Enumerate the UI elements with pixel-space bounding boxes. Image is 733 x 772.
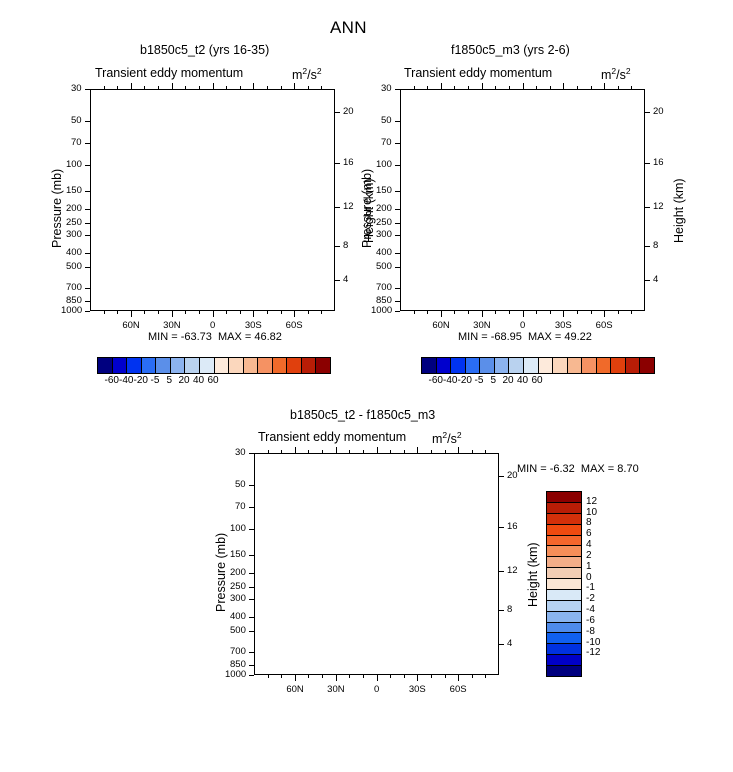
axis-tick [591, 311, 592, 314]
axis-tick-label: 1000 [371, 305, 392, 316]
axis-tick-label: 30N [327, 684, 344, 695]
colorbar-swatch [422, 358, 437, 373]
panel-difference-title: b1850c5_t2 - f1850c5_m3 [290, 408, 435, 422]
axis-tick [322, 675, 323, 678]
axis-tick [249, 587, 254, 588]
axis-tick-label: 300 [230, 593, 246, 604]
axis-tick-label: 700 [376, 282, 392, 293]
axis-tick [268, 450, 269, 453]
colorbar-difference[interactable] [546, 491, 582, 677]
axis-tick [645, 207, 650, 208]
colorbar-tick-label: 5 [491, 375, 497, 386]
axis-tick-label: 0 [520, 320, 525, 331]
axis-tick-label: 30N [473, 320, 490, 331]
colorbar-swatch [287, 358, 302, 373]
colorbar-tick-label: 8 [586, 517, 592, 528]
colorbar-swatch [547, 525, 581, 536]
panel-top-right-minmax: MIN = -68.95 MAX = 49.22 [458, 331, 592, 343]
axis-tick [577, 86, 578, 89]
axis-tick [550, 311, 551, 314]
colorbar-swatch [611, 358, 626, 373]
colorbar-tick-label: 10 [586, 507, 597, 518]
axis-tick-label: 100 [66, 159, 82, 170]
axis-tick [281, 311, 282, 314]
colorbar-swatch [302, 358, 317, 373]
colorbar-swatch [597, 358, 612, 373]
colorbar-tick-label: 6 [586, 528, 592, 539]
axis-tick [395, 143, 400, 144]
panel-difference-yaxis-right-label: Height (km) [526, 542, 540, 607]
colorbar-swatch [547, 579, 581, 590]
axis-tick [523, 311, 524, 317]
axis-tick [417, 447, 418, 453]
axis-tick [281, 450, 282, 453]
axis-tick-label: 50 [71, 115, 82, 126]
colorbar-swatch [547, 503, 581, 514]
axis-tick [631, 311, 632, 314]
axis-tick [281, 86, 282, 89]
colorbar-swatch [142, 358, 157, 373]
panel-difference-contour-field [255, 454, 499, 675]
axis-tick [563, 311, 564, 317]
colorbar-top-right[interactable] [421, 357, 655, 374]
colorbar-swatch [480, 358, 495, 373]
units-exp2: 2 [626, 66, 631, 76]
colorbar-swatch [258, 358, 273, 373]
colorbar-tick-label: -5 [151, 375, 160, 386]
axis-tick [495, 86, 496, 89]
panel-difference-minmax: MIN = -6.32 MAX = 8.70 [517, 463, 639, 475]
axis-tick-label: 1000 [61, 305, 82, 316]
axis-tick [85, 253, 90, 254]
axis-tick [249, 453, 254, 454]
axis-tick [104, 86, 105, 89]
panel-top-right-contour-field [401, 90, 645, 311]
colorbar-tick-label: -60 [429, 375, 443, 386]
colorbar-tick-label: 12 [586, 496, 597, 507]
axis-tick [499, 527, 504, 528]
axis-tick-label: 60S [450, 684, 467, 695]
axis-tick [249, 599, 254, 600]
panel-difference-variable-label: Transient eddy momentum [258, 430, 406, 444]
axis-tick [482, 83, 483, 89]
axis-tick [427, 86, 428, 89]
axis-tick [431, 675, 432, 678]
axis-tick [631, 86, 632, 89]
axis-tick [550, 86, 551, 89]
colorbar-swatch [495, 358, 510, 373]
units-exp2: 2 [457, 430, 462, 440]
colorbar-swatch [451, 358, 466, 373]
axis-tick [240, 311, 241, 314]
axis-tick-label: 70 [71, 137, 82, 148]
axis-tick [454, 311, 455, 314]
axis-tick [85, 301, 90, 302]
axis-tick [308, 86, 309, 89]
axis-tick-label: 20 [653, 106, 664, 117]
axis-tick-label: 250 [230, 581, 246, 592]
axis-tick [172, 83, 173, 89]
axis-tick-label: 700 [66, 282, 82, 293]
axis-tick [454, 86, 455, 89]
axis-tick [131, 311, 132, 317]
colorbar-tick-label: -8 [586, 626, 595, 637]
axis-tick [445, 675, 446, 678]
axis-tick [213, 83, 214, 89]
axis-tick-label: 150 [376, 185, 392, 196]
axis-tick [427, 311, 428, 314]
axis-tick [563, 83, 564, 89]
axis-tick-label: 70 [381, 137, 392, 148]
axis-tick [85, 288, 90, 289]
axis-tick [253, 311, 254, 317]
axis-tick-label: 200 [230, 567, 246, 578]
units-base: m [601, 68, 611, 82]
axis-tick [604, 311, 605, 317]
axis-tick [85, 191, 90, 192]
panel-difference-plot[interactable] [254, 453, 499, 675]
axis-tick-label: 400 [376, 247, 392, 258]
colorbar-tick-label: 2 [586, 550, 592, 561]
colorbar-tick-label: 20 [503, 375, 514, 386]
units-base: m [432, 432, 442, 446]
colorbar-swatch [539, 358, 554, 373]
axis-tick [395, 89, 400, 90]
panel-top-right-plot[interactable] [400, 89, 645, 311]
units-mid: /s [616, 68, 626, 82]
colorbar-tick-label: 0 [586, 572, 592, 583]
axis-tick [349, 675, 350, 678]
axis-tick-label: 400 [66, 247, 82, 258]
axis-tick [499, 571, 504, 572]
axis-tick-label: 20 [343, 106, 354, 117]
axis-tick [509, 311, 510, 314]
colorbar-tick-label: -6 [586, 615, 595, 626]
axis-tick [468, 86, 469, 89]
axis-tick [395, 223, 400, 224]
panel-top-left-title: b1850c5_t2 (yrs 16-35) [140, 43, 269, 57]
colorbar-swatch [547, 655, 581, 666]
colorbar-tick-label: -20 [458, 375, 472, 386]
axis-tick [645, 280, 650, 281]
colorbar-swatch [437, 358, 452, 373]
axis-tick [249, 675, 254, 676]
panel-difference-yaxis-label: Pressure (mb) [214, 533, 228, 612]
axis-tick-label: 30N [163, 320, 180, 331]
axis-tick-label: 60N [286, 684, 303, 695]
axis-tick-label: 100 [376, 159, 392, 170]
colorbar-tick-label: 40 [193, 375, 204, 386]
axis-tick [249, 665, 254, 666]
axis-tick [431, 450, 432, 453]
axis-tick [363, 450, 364, 453]
colorbar-swatch [127, 358, 142, 373]
colorbar-tick-label: -40 [119, 375, 133, 386]
colorbar-swatch [215, 358, 230, 373]
axis-tick [472, 450, 473, 453]
colorbar-swatch [171, 358, 186, 373]
axis-tick [85, 311, 90, 312]
panel-top-left-max: MAX = 46.82 [218, 331, 282, 343]
colorbar-tick-label: -40 [443, 375, 457, 386]
axis-tick [591, 86, 592, 89]
axis-tick-label: 30 [235, 447, 246, 458]
axis-tick [536, 311, 537, 314]
axis-tick-label: 8 [653, 240, 658, 251]
axis-tick-label: 0 [210, 320, 215, 331]
axis-tick [499, 644, 504, 645]
colorbar-tick-label: -1 [586, 582, 595, 593]
axis-tick-label: 200 [376, 203, 392, 214]
colorbar-tick-label: -2 [586, 593, 595, 604]
axis-tick [536, 86, 537, 89]
colorbar-tick-label: 1 [586, 561, 592, 572]
axis-tick [172, 311, 173, 317]
axis-tick [472, 675, 473, 678]
colorbar-swatch [98, 358, 113, 373]
colorbar-swatch [640, 358, 654, 373]
axis-tick-label: 4 [343, 274, 348, 285]
units-exp2: 2 [317, 66, 322, 76]
axis-tick [117, 86, 118, 89]
axis-tick [144, 311, 145, 314]
axis-tick-label: 30 [71, 83, 82, 94]
axis-tick-label: 60N [122, 320, 139, 331]
colorbar-tick-label: -10 [586, 637, 600, 648]
axis-tick [336, 675, 337, 681]
axis-tick [213, 311, 214, 317]
axis-tick [499, 476, 504, 477]
axis-tick-label: 500 [230, 625, 246, 636]
colorbar-swatch [547, 623, 581, 634]
panel-difference-units: m2/s2 [432, 430, 462, 446]
axis-tick [144, 86, 145, 89]
axis-tick [395, 191, 400, 192]
colorbar-top-left[interactable] [97, 357, 331, 374]
panel-top-left-variable-label: Transient eddy momentum [95, 66, 243, 80]
axis-tick [645, 163, 650, 164]
axis-tick [226, 86, 227, 89]
axis-tick [482, 311, 483, 317]
axis-tick [363, 675, 364, 678]
axis-tick [185, 311, 186, 314]
colorbar-swatch [547, 590, 581, 601]
axis-tick-label: 250 [376, 217, 392, 228]
panel-top-right-units: m2/s2 [601, 66, 631, 82]
axis-tick [308, 311, 309, 314]
panel-top-left-yaxis-label: Pressure (mb) [50, 169, 64, 248]
axis-tick [395, 235, 400, 236]
colorbar-tick-label: -4 [586, 604, 595, 615]
axis-tick [199, 311, 200, 314]
axis-tick [253, 83, 254, 89]
panel-top-right-yaxis-right-label: Height (km) [672, 178, 686, 243]
colorbar-tick-label: -20 [134, 375, 148, 386]
axis-tick-label: 300 [376, 229, 392, 240]
axis-tick [267, 86, 268, 89]
colorbar-swatch [244, 358, 259, 373]
figure-season-title: ANN [330, 18, 367, 38]
axis-tick-label: 150 [230, 549, 246, 560]
axis-tick [158, 311, 159, 314]
axis-tick [85, 235, 90, 236]
axis-tick-label: 400 [230, 611, 246, 622]
colorbar-swatch [509, 358, 524, 373]
colorbar-swatch [547, 666, 581, 676]
axis-tick [321, 311, 322, 314]
axis-tick-label: 150 [66, 185, 82, 196]
axis-tick-label: 100 [230, 523, 246, 534]
axis-tick [322, 450, 323, 453]
axis-tick-label: 60S [286, 320, 303, 331]
panel-difference-max: MAX = 8.70 [581, 463, 639, 475]
colorbar-swatch [547, 557, 581, 568]
colorbar-tick-label: -5 [475, 375, 484, 386]
axis-tick [458, 675, 459, 681]
axis-tick [267, 311, 268, 314]
axis-tick [335, 280, 340, 281]
axis-tick [395, 121, 400, 122]
axis-tick [645, 112, 650, 113]
axis-tick-label: 60N [432, 320, 449, 331]
axis-tick [395, 288, 400, 289]
axis-tick [249, 631, 254, 632]
units-mid: /s [307, 68, 317, 82]
panel-top-left-units: m2/s2 [292, 66, 322, 82]
axis-tick [185, 86, 186, 89]
colorbar-tick-label: -60 [105, 375, 119, 386]
axis-tick-label: 8 [343, 240, 348, 251]
axis-tick [335, 163, 340, 164]
colorbar-swatch [229, 358, 244, 373]
axis-tick-label: 30S [245, 320, 262, 331]
axis-tick [295, 447, 296, 453]
axis-tick-label: 70 [235, 501, 246, 512]
axis-tick [349, 450, 350, 453]
axis-tick-label: 30 [381, 83, 392, 94]
colorbar-swatch [547, 633, 581, 644]
colorbar-tick-label: 60 [208, 375, 219, 386]
axis-tick [604, 83, 605, 89]
axis-tick-label: 16 [343, 157, 354, 168]
colorbar-swatch [547, 492, 581, 503]
axis-tick [523, 83, 524, 89]
axis-tick [85, 165, 90, 166]
axis-tick-label: 16 [507, 521, 518, 532]
axis-tick [281, 675, 282, 678]
axis-tick [395, 311, 400, 312]
colorbar-swatch [524, 358, 539, 373]
axis-tick [377, 447, 378, 453]
axis-tick [395, 165, 400, 166]
axis-tick-label: 8 [507, 604, 512, 615]
panel-top-left-minmax: MIN = -63.73 MAX = 46.82 [148, 331, 282, 343]
axis-tick [485, 450, 486, 453]
axis-tick-label: 250 [66, 217, 82, 228]
axis-tick-label: 50 [235, 479, 246, 490]
axis-tick [404, 450, 405, 453]
axis-tick [85, 209, 90, 210]
axis-tick-label: 20 [507, 470, 518, 481]
axis-tick [441, 311, 442, 317]
axis-tick-label: 200 [66, 203, 82, 214]
colorbar-swatch [547, 536, 581, 547]
axis-tick [85, 267, 90, 268]
axis-tick [645, 246, 650, 247]
axis-tick [441, 83, 442, 89]
axis-tick-label: 4 [507, 638, 512, 649]
colorbar-swatch [547, 644, 581, 655]
axis-tick [85, 143, 90, 144]
axis-tick [249, 485, 254, 486]
axis-tick [249, 555, 254, 556]
axis-tick [458, 447, 459, 453]
axis-tick [85, 121, 90, 122]
colorbar-swatch [568, 358, 583, 373]
colorbar-tick-label: 5 [167, 375, 173, 386]
axis-tick-label: 0 [374, 684, 379, 695]
panel-top-left-contour-field [91, 90, 335, 311]
axis-tick [390, 675, 391, 678]
colorbar-swatch [547, 568, 581, 579]
axis-tick [335, 246, 340, 247]
axis-tick [249, 573, 254, 574]
axis-tick [249, 507, 254, 508]
axis-tick [308, 675, 309, 678]
colorbar-swatch [466, 358, 481, 373]
colorbar-swatch [273, 358, 288, 373]
axis-tick [495, 311, 496, 314]
axis-tick [395, 267, 400, 268]
colorbar-tick-label: 40 [517, 375, 528, 386]
colorbar-swatch [547, 546, 581, 557]
colorbar-tick-label: 20 [179, 375, 190, 386]
axis-tick [414, 311, 415, 314]
axis-tick [294, 311, 295, 317]
axis-tick [445, 450, 446, 453]
panel-top-left-min: MIN = -63.73 [148, 331, 212, 343]
axis-tick [85, 223, 90, 224]
axis-tick [618, 86, 619, 89]
units-base: m [292, 68, 302, 82]
axis-tick [390, 450, 391, 453]
axis-tick-label: 500 [376, 261, 392, 272]
axis-tick [618, 311, 619, 314]
colorbar-tick-label: 60 [532, 375, 543, 386]
axis-tick-label: 500 [66, 261, 82, 272]
axis-tick-label: 4 [653, 274, 658, 285]
panel-difference-min: MIN = -6.32 [517, 463, 575, 475]
axis-tick [268, 675, 269, 678]
axis-tick [295, 675, 296, 681]
axis-tick [321, 86, 322, 89]
colorbar-swatch [113, 358, 128, 373]
panel-top-left-plot[interactable] [90, 89, 335, 311]
axis-tick [249, 529, 254, 530]
panel-top-right-yaxis-label: Pressure (mb) [360, 169, 374, 248]
colorbar-swatch [200, 358, 215, 373]
axis-tick [335, 207, 340, 208]
colorbar-swatch [316, 358, 330, 373]
axis-tick [117, 311, 118, 314]
axis-tick [335, 112, 340, 113]
axis-tick [404, 675, 405, 678]
axis-tick-label: 12 [343, 201, 354, 212]
axis-tick-label: 12 [653, 201, 664, 212]
panel-top-right-variable-label: Transient eddy momentum [404, 66, 552, 80]
axis-tick [377, 675, 378, 681]
axis-tick [249, 652, 254, 653]
